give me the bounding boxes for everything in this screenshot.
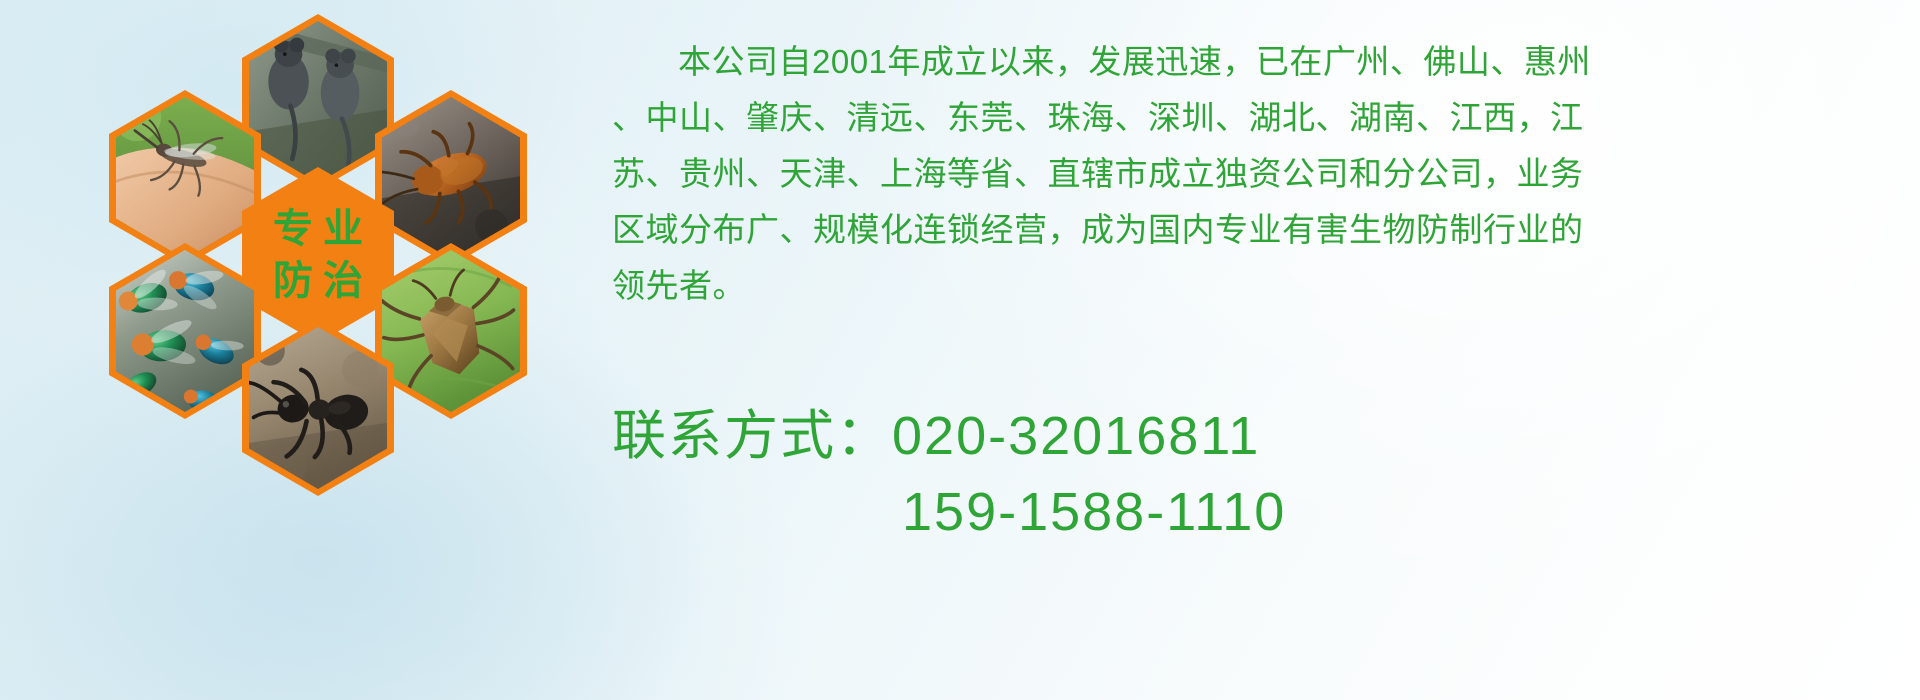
- center-label-line1: 专业: [263, 209, 373, 249]
- cockroach-icon: [382, 97, 520, 259]
- rats-icon: [249, 21, 387, 183]
- flies-icon: [116, 250, 254, 412]
- center-label: 专业 防治: [242, 167, 394, 343]
- contact-block: 联系方式：020-32016811 159-1588-1110: [612, 398, 1912, 550]
- stink-bug-photo: [382, 250, 520, 412]
- flies-photo: [116, 250, 254, 412]
- cockroach-photo: [382, 97, 520, 259]
- copy-line-5: 领先者。: [612, 258, 1912, 313]
- ant-photo: [249, 327, 387, 489]
- copy-line-3: 苏、贵州、天津、上海等省、直辖市成立独资公司和分公司，业务: [612, 146, 1912, 201]
- hex-cell-flies[interactable]: [109, 243, 261, 419]
- hex-cell-rats[interactable]: [242, 14, 394, 190]
- mosquito-icon: [116, 97, 254, 259]
- promo-banner: 专业 防治: [0, 0, 1920, 700]
- mosquito-photo: [116, 97, 254, 259]
- copy-line-2: 、中山、肇庆、清远、东莞、珠海、深圳、湖北、湖南、江西，江: [612, 90, 1912, 145]
- contact-primary-phone[interactable]: 联系方式：020-32016811: [612, 398, 1912, 474]
- copy-line-4: 区域分布广、规模化连锁经营，成为国内专业有害生物防制行业的: [612, 202, 1912, 257]
- hex-cell-center-label: 专业 防治: [242, 167, 394, 343]
- company-description: 本公司自2001年成立以来，发展迅速，已在广州、佛山、惠州 、中山、肇庆、清远、…: [612, 34, 1912, 314]
- rats-photo: [249, 21, 387, 183]
- center-label-line2: 防治: [263, 261, 373, 301]
- honeycomb-photo-cluster: 专业 防治: [88, 14, 588, 574]
- hex-cell-stinkbug[interactable]: [375, 243, 527, 419]
- stink-bug-icon: [382, 250, 520, 412]
- hex-cell-mosquito[interactable]: [109, 90, 261, 266]
- contact-secondary-phone[interactable]: 159-1588-1110: [612, 474, 1912, 550]
- hex-cell-ant[interactable]: [242, 320, 394, 496]
- hex-cell-cockroach[interactable]: [375, 90, 527, 266]
- copy-line-1: 本公司自2001年成立以来，发展迅速，已在广州、佛山、惠州: [612, 34, 1912, 89]
- ant-icon: [249, 327, 387, 489]
